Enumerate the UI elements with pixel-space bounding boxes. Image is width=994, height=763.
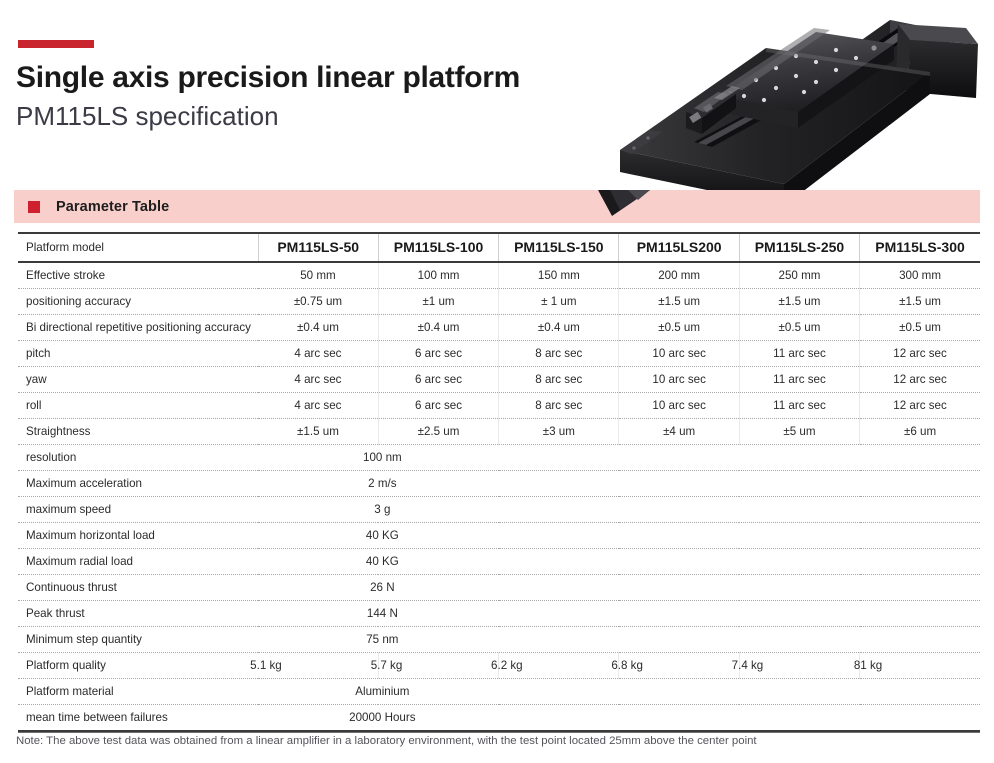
header-col-2: PM115LS-150 <box>499 233 619 262</box>
row-value: ±1.5 um <box>739 289 859 315</box>
row-value: ±4 um <box>619 419 739 445</box>
row-value: 50 mm <box>258 262 378 289</box>
row-label: Bi directional repetitive positioning ac… <box>18 315 258 341</box>
table-row: Platform materialAluminium <box>18 679 980 705</box>
row-value: 11 arc sec <box>739 341 859 367</box>
row-value-merged: 144 N <box>258 601 980 627</box>
row-value-merged: 100 nm <box>258 445 980 471</box>
table-bottom-rule <box>18 730 980 733</box>
row-value: 100 mm <box>378 262 498 289</box>
row-value: ±0.4 um <box>258 315 378 341</box>
row-value: 200 mm <box>619 262 739 289</box>
row-value: 11 arc sec <box>739 393 859 419</box>
row-label: Maximum acceleration <box>18 471 258 497</box>
table-row: Maximum horizontal load40 KG <box>18 523 980 549</box>
table-row: positioning accuracy±0.75 um±1 um± 1 um±… <box>18 289 980 315</box>
red-accent-bar <box>18 40 94 48</box>
row-value: ±3 um <box>499 419 619 445</box>
row-value: 10 arc sec <box>619 341 739 367</box>
specification-table: Platform model PM115LS-50 PM115LS-100 PM… <box>18 232 980 733</box>
parameter-table-section-bar: Parameter Table <box>14 190 980 223</box>
row-label: mean time between failures <box>18 705 258 731</box>
row-value: 8 arc sec <box>499 393 619 419</box>
table-row: Effective stroke50 mm100 mm150 mm200 mm2… <box>18 262 980 289</box>
table-row: Bi directional repetitive positioning ac… <box>18 315 980 341</box>
row-label: maximum speed <box>18 497 258 523</box>
row-value: ±0.75 um <box>258 289 378 315</box>
table-row: pitch4 arc sec6 arc sec8 arc sec10 arc s… <box>18 341 980 367</box>
row-label: Platform material <box>18 679 258 705</box>
row-label: Maximum horizontal load <box>18 523 258 549</box>
table-body: Effective stroke50 mm100 mm150 mm200 mm2… <box>18 262 980 730</box>
row-value: ±1 um <box>378 289 498 315</box>
row-label: positioning accuracy <box>18 289 258 315</box>
row-value: 10 arc sec <box>619 393 739 419</box>
row-value: 6 arc sec <box>378 393 498 419</box>
row-value: ±0.4 um <box>499 315 619 341</box>
row-value-merged: 2 m/s <box>258 471 980 497</box>
section-bullet-icon <box>28 201 40 213</box>
row-label: Effective stroke <box>18 262 258 289</box>
row-value: ± 1 um <box>499 289 619 315</box>
row-label: pitch <box>18 341 258 367</box>
row-value: ±2.5 um <box>378 419 498 445</box>
row-label: Minimum step quantity <box>18 627 258 653</box>
table-row: Straightness±1.5 um±2.5 um±3 um±4 um±5 u… <box>18 419 980 445</box>
row-value-merged: 40 KG <box>258 523 980 549</box>
page-title: Single axis precision linear platform <box>16 60 576 95</box>
table-row: yaw4 arc sec6 arc sec8 arc sec10 arc sec… <box>18 367 980 393</box>
header-col-0: PM115LS-50 <box>258 233 378 262</box>
row-value: ±1.5 um <box>258 419 378 445</box>
row-value: 10 arc sec <box>619 367 739 393</box>
row-value: 81 kg <box>860 653 980 679</box>
header-col-1: PM115LS-100 <box>378 233 498 262</box>
row-value: ±0.5 um <box>860 315 980 341</box>
table-row: Continuous thrust26 N <box>18 575 980 601</box>
row-value: ±5 um <box>739 419 859 445</box>
row-value: 12 arc sec <box>860 341 980 367</box>
header-col-3: PM115LS200 <box>619 233 739 262</box>
row-value: 250 mm <box>739 262 859 289</box>
section-title: Parameter Table <box>56 199 169 215</box>
row-label: Peak thrust <box>18 601 258 627</box>
row-value-merged: 75 nm <box>258 627 980 653</box>
row-value: 4 arc sec <box>258 367 378 393</box>
row-value-merged: 20000 Hours <box>258 705 980 731</box>
table-row: mean time between failures20000 Hours <box>18 705 980 731</box>
table-row: resolution100 nm <box>18 445 980 471</box>
spec-table: Platform model PM115LS-50 PM115LS-100 PM… <box>18 232 980 730</box>
footer-note: Note: The above test data was obtained f… <box>16 735 976 747</box>
row-value-merged: 3 g <box>258 497 980 523</box>
row-value: 8 arc sec <box>499 367 619 393</box>
row-value: ±0.5 um <box>739 315 859 341</box>
table-row: roll4 arc sec6 arc sec8 arc sec10 arc se… <box>18 393 980 419</box>
row-value: ±1.5 um <box>860 289 980 315</box>
table-row: Minimum step quantity75 nm <box>18 627 980 653</box>
title-block: Single axis precision linear platform PM… <box>16 60 576 133</box>
table-row: Peak thrust144 N <box>18 601 980 627</box>
header-col-4: PM115LS-250 <box>739 233 859 262</box>
row-value: 150 mm <box>499 262 619 289</box>
row-value: ±0.5 um <box>619 315 739 341</box>
row-value: 4 arc sec <box>258 341 378 367</box>
row-value: 4 arc sec <box>258 393 378 419</box>
row-value: ±0.4 um <box>378 315 498 341</box>
row-value: ±1.5 um <box>619 289 739 315</box>
row-value-merged: Aluminium <box>258 679 980 705</box>
table-row: Maximum radial load40 KG <box>18 549 980 575</box>
row-value: 11 arc sec <box>739 367 859 393</box>
table-header-row: Platform model PM115LS-50 PM115LS-100 PM… <box>18 233 980 262</box>
table-row: Platform quality5.1 kg5.7 kg6.2 kg6.8 kg… <box>18 653 980 679</box>
row-label: Maximum radial load <box>18 549 258 575</box>
product-photo <box>598 2 994 214</box>
table-row: maximum speed3 g <box>18 497 980 523</box>
row-value: 8 arc sec <box>499 341 619 367</box>
row-label: Straightness <box>18 419 258 445</box>
row-label: resolution <box>18 445 258 471</box>
row-label: Continuous thrust <box>18 575 258 601</box>
row-value: 6 arc sec <box>378 367 498 393</box>
header-col-5: PM115LS-300 <box>860 233 980 262</box>
header-platform-model: Platform model <box>18 233 258 262</box>
row-label: roll <box>18 393 258 419</box>
row-value: ±6 um <box>860 419 980 445</box>
row-value-merged: 40 KG <box>258 549 980 575</box>
row-value: 6 arc sec <box>378 341 498 367</box>
row-value: 12 arc sec <box>860 367 980 393</box>
table-row: Maximum acceleration2 m/s <box>18 471 980 497</box>
row-value-merged: 26 N <box>258 575 980 601</box>
row-value: 12 arc sec <box>860 393 980 419</box>
page-subtitle: PM115LS specification <box>16 101 576 132</box>
row-label: yaw <box>18 367 258 393</box>
row-value: 300 mm <box>860 262 980 289</box>
